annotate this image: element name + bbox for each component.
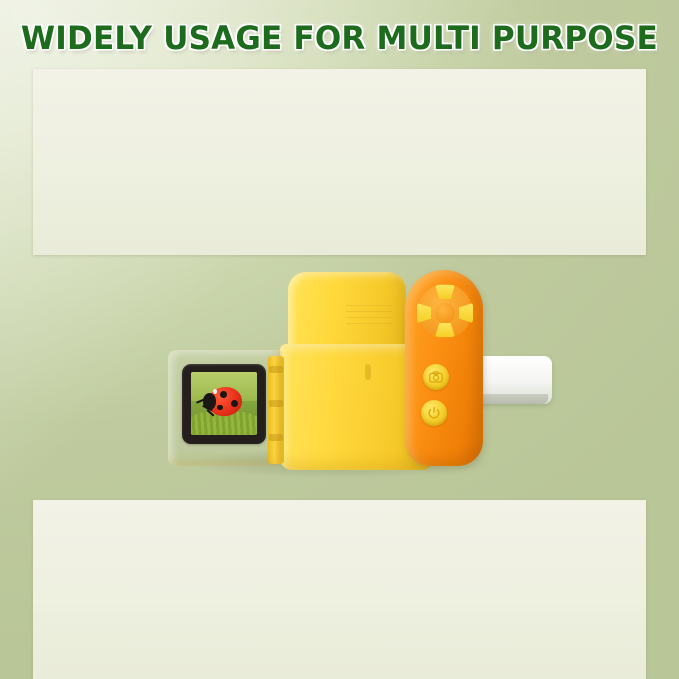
sample-shots-panel xyxy=(33,500,646,679)
power-icon xyxy=(428,407,441,420)
embossed-text-mark xyxy=(346,302,392,324)
camera-icon xyxy=(429,371,443,383)
power-button[interactable] xyxy=(421,400,447,426)
shutter-button[interactable] xyxy=(423,364,449,390)
ladybug-spot xyxy=(217,405,222,411)
body-latch xyxy=(365,364,371,380)
page-title-wrap: WIDELY USAGE FOR MULTI PURPOSE xyxy=(0,19,679,57)
marketing-banner: WIDELY USAGE FOR MULTI PURPOSE xyxy=(0,0,679,679)
product-hero-image xyxy=(150,252,540,502)
ladybug-spot xyxy=(220,391,227,398)
dpad-center-button[interactable] xyxy=(435,303,455,323)
ladybug-spot xyxy=(231,400,238,408)
lcd-screen[interactable] xyxy=(191,372,257,435)
usage-scenes-panel xyxy=(33,69,646,255)
page-title: WIDELY USAGE FOR MULTI PURPOSE xyxy=(21,19,658,57)
